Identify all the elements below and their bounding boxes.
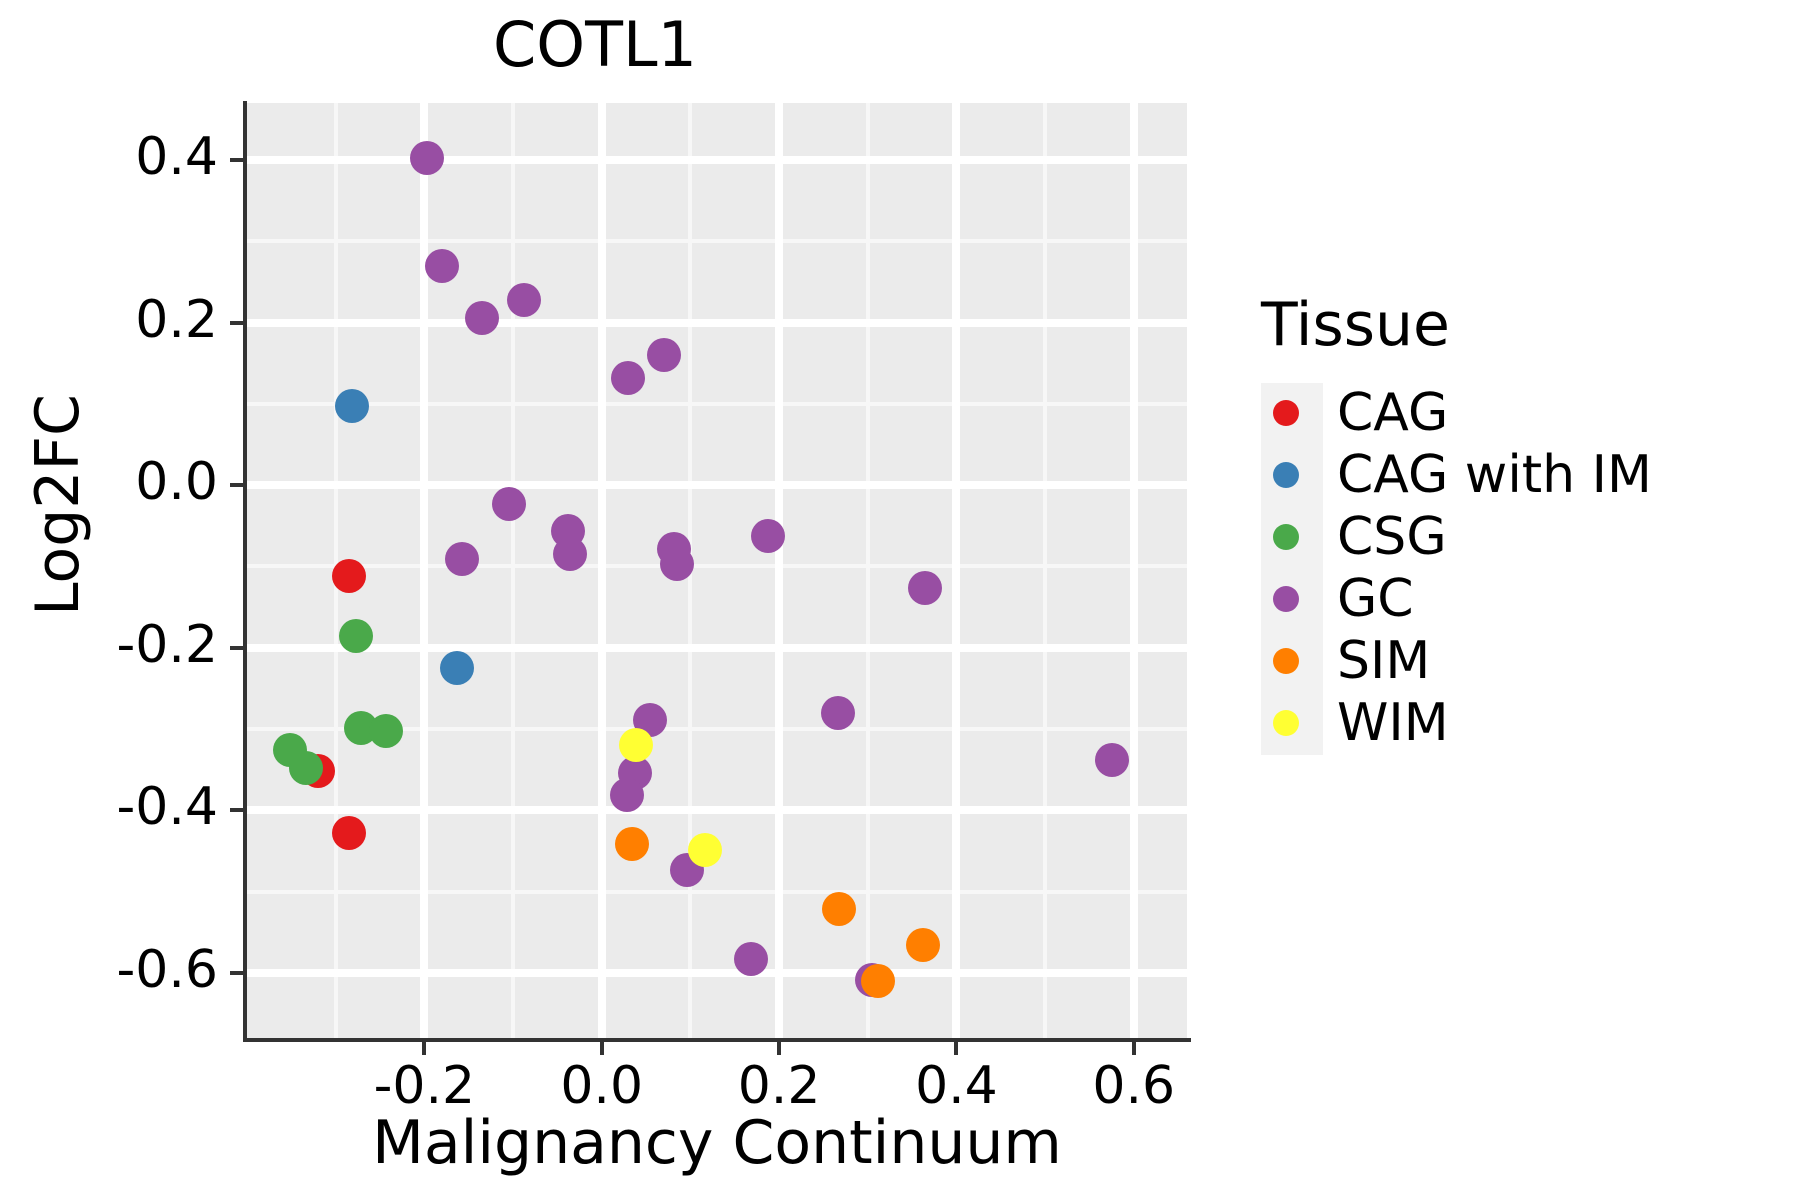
grid-major-vertical: [598, 103, 606, 1038]
legend-item-label: GC: [1337, 569, 1414, 629]
scatter-point-csg: [369, 714, 403, 748]
scatter-point-sim: [861, 964, 895, 998]
y-tick-label: 0.2: [0, 290, 218, 350]
scatter-point-gc: [425, 249, 459, 283]
scatter-point-gc: [660, 547, 694, 581]
x-tick-label: 0.4: [856, 1056, 1056, 1116]
grid-major-horizontal: [247, 806, 1187, 814]
y-tick-label: -0.2: [0, 615, 218, 675]
legend-swatch-icon: [1255, 630, 1317, 692]
scatter-point-sim: [615, 827, 649, 861]
grid-minor-vertical: [511, 103, 515, 1038]
scatter-point-gc: [492, 487, 526, 521]
scatter-point-gc: [908, 571, 942, 605]
scatter-point-sim: [822, 892, 856, 926]
legend-item-label: WIM: [1337, 693, 1449, 753]
legend-item-csg[interactable]: CSG: [1255, 506, 1775, 568]
y-tick-label: -0.4: [0, 777, 218, 837]
legend-item-wim[interactable]: WIM: [1255, 692, 1775, 754]
scatter-point-gc: [611, 361, 645, 395]
scatter-point-gc: [445, 542, 479, 576]
legend-swatch-icon: [1255, 568, 1317, 630]
scatter-point-sim: [906, 928, 940, 962]
x-tick-mark: [954, 1042, 958, 1055]
scatter-point-gc: [465, 301, 499, 335]
x-tick-mark: [600, 1042, 604, 1055]
scatter-point-gc: [410, 141, 444, 175]
plot-panel: [247, 103, 1187, 1038]
x-tick-mark: [777, 1042, 781, 1055]
grid-major-horizontal: [247, 156, 1187, 164]
legend-items: CAGCAG with IMCSGGCSIMWIM: [1255, 382, 1775, 754]
legend-swatch-icon: [1255, 382, 1317, 444]
legend-item-cag-with-im[interactable]: CAG with IM: [1255, 444, 1775, 506]
y-tick-mark: [230, 483, 243, 487]
grid-major-vertical: [1130, 103, 1138, 1038]
legend-dot-icon: [1273, 462, 1299, 488]
legend-dot-icon: [1273, 524, 1299, 550]
grid-minor-vertical: [866, 103, 870, 1038]
legend-dot-icon: [1273, 586, 1299, 612]
grid-major-vertical: [952, 103, 960, 1038]
legend-item-label: CSG: [1337, 507, 1447, 567]
y-tick-mark: [230, 158, 243, 162]
grid-major-horizontal: [247, 319, 1187, 327]
scatter-point-wim: [619, 728, 653, 762]
scatter-point-cag-with-im: [335, 389, 369, 423]
y-tick-label: -0.6: [0, 940, 218, 1000]
x-tick-label: -0.2: [324, 1056, 524, 1116]
y-axis-line: [243, 101, 247, 1040]
legend-swatch-icon: [1255, 444, 1317, 506]
scatter-point-gc: [751, 519, 785, 553]
legend-swatch-icon: [1255, 692, 1317, 754]
x-tick-label: 0.2: [679, 1056, 879, 1116]
y-tick-mark: [230, 646, 243, 650]
scatter-point-gc: [610, 778, 644, 812]
legend-item-cag[interactable]: CAG: [1255, 382, 1775, 444]
y-tick-mark: [230, 808, 243, 812]
y-tick-mark: [230, 321, 243, 325]
scatter-point-gc: [507, 283, 541, 317]
scatter-point-cag-with-im: [440, 651, 474, 685]
x-tick-label: 0.0: [502, 1056, 702, 1116]
legend-item-label: CAG with IM: [1337, 445, 1652, 505]
grid-major-vertical: [775, 103, 783, 1038]
legend-dot-icon: [1273, 648, 1299, 674]
scatter-point-gc: [734, 942, 768, 976]
legend-title: Tissue: [1261, 290, 1775, 360]
page-title: COTL1: [0, 8, 1190, 81]
x-tick-label: 0.6: [1034, 1056, 1234, 1116]
scatter-point-gc: [553, 537, 587, 571]
legend-item-label: SIM: [1337, 631, 1430, 691]
scatter-point-gc: [1095, 743, 1129, 777]
x-axis-line: [243, 1038, 1191, 1042]
legend-dot-icon: [1273, 400, 1299, 426]
grid-minor-vertical: [1043, 103, 1047, 1038]
grid-major-horizontal: [247, 481, 1187, 489]
legend-swatch-icon: [1255, 506, 1317, 568]
scatter-point-cag: [332, 559, 366, 593]
legend-dot-icon: [1273, 710, 1299, 736]
legend-item-label: CAG: [1337, 383, 1448, 443]
grid-major-horizontal: [247, 969, 1187, 977]
y-tick-label: 0.0: [0, 452, 218, 512]
scatter-point-gc: [821, 696, 855, 730]
grid-major-vertical: [420, 103, 428, 1038]
x-axis-label: Malignancy Continuum: [247, 1108, 1187, 1178]
y-tick-label: 0.4: [0, 127, 218, 187]
x-tick-mark: [1132, 1042, 1136, 1055]
y-tick-mark: [230, 971, 243, 975]
legend-item-sim[interactable]: SIM: [1255, 630, 1775, 692]
grid-major-horizontal: [247, 644, 1187, 652]
scatter-point-cag: [332, 816, 366, 850]
chart-root: COTL1 Log2FC Malignancy Continuum 0.40.2…: [0, 0, 1800, 1200]
legend-item-gc[interactable]: GC: [1255, 568, 1775, 630]
scatter-point-gc: [647, 338, 681, 372]
x-tick-mark: [422, 1042, 426, 1055]
scatter-point-wim: [688, 833, 722, 867]
legend: Tissue CAGCAG with IMCSGGCSIMWIM: [1255, 290, 1775, 754]
